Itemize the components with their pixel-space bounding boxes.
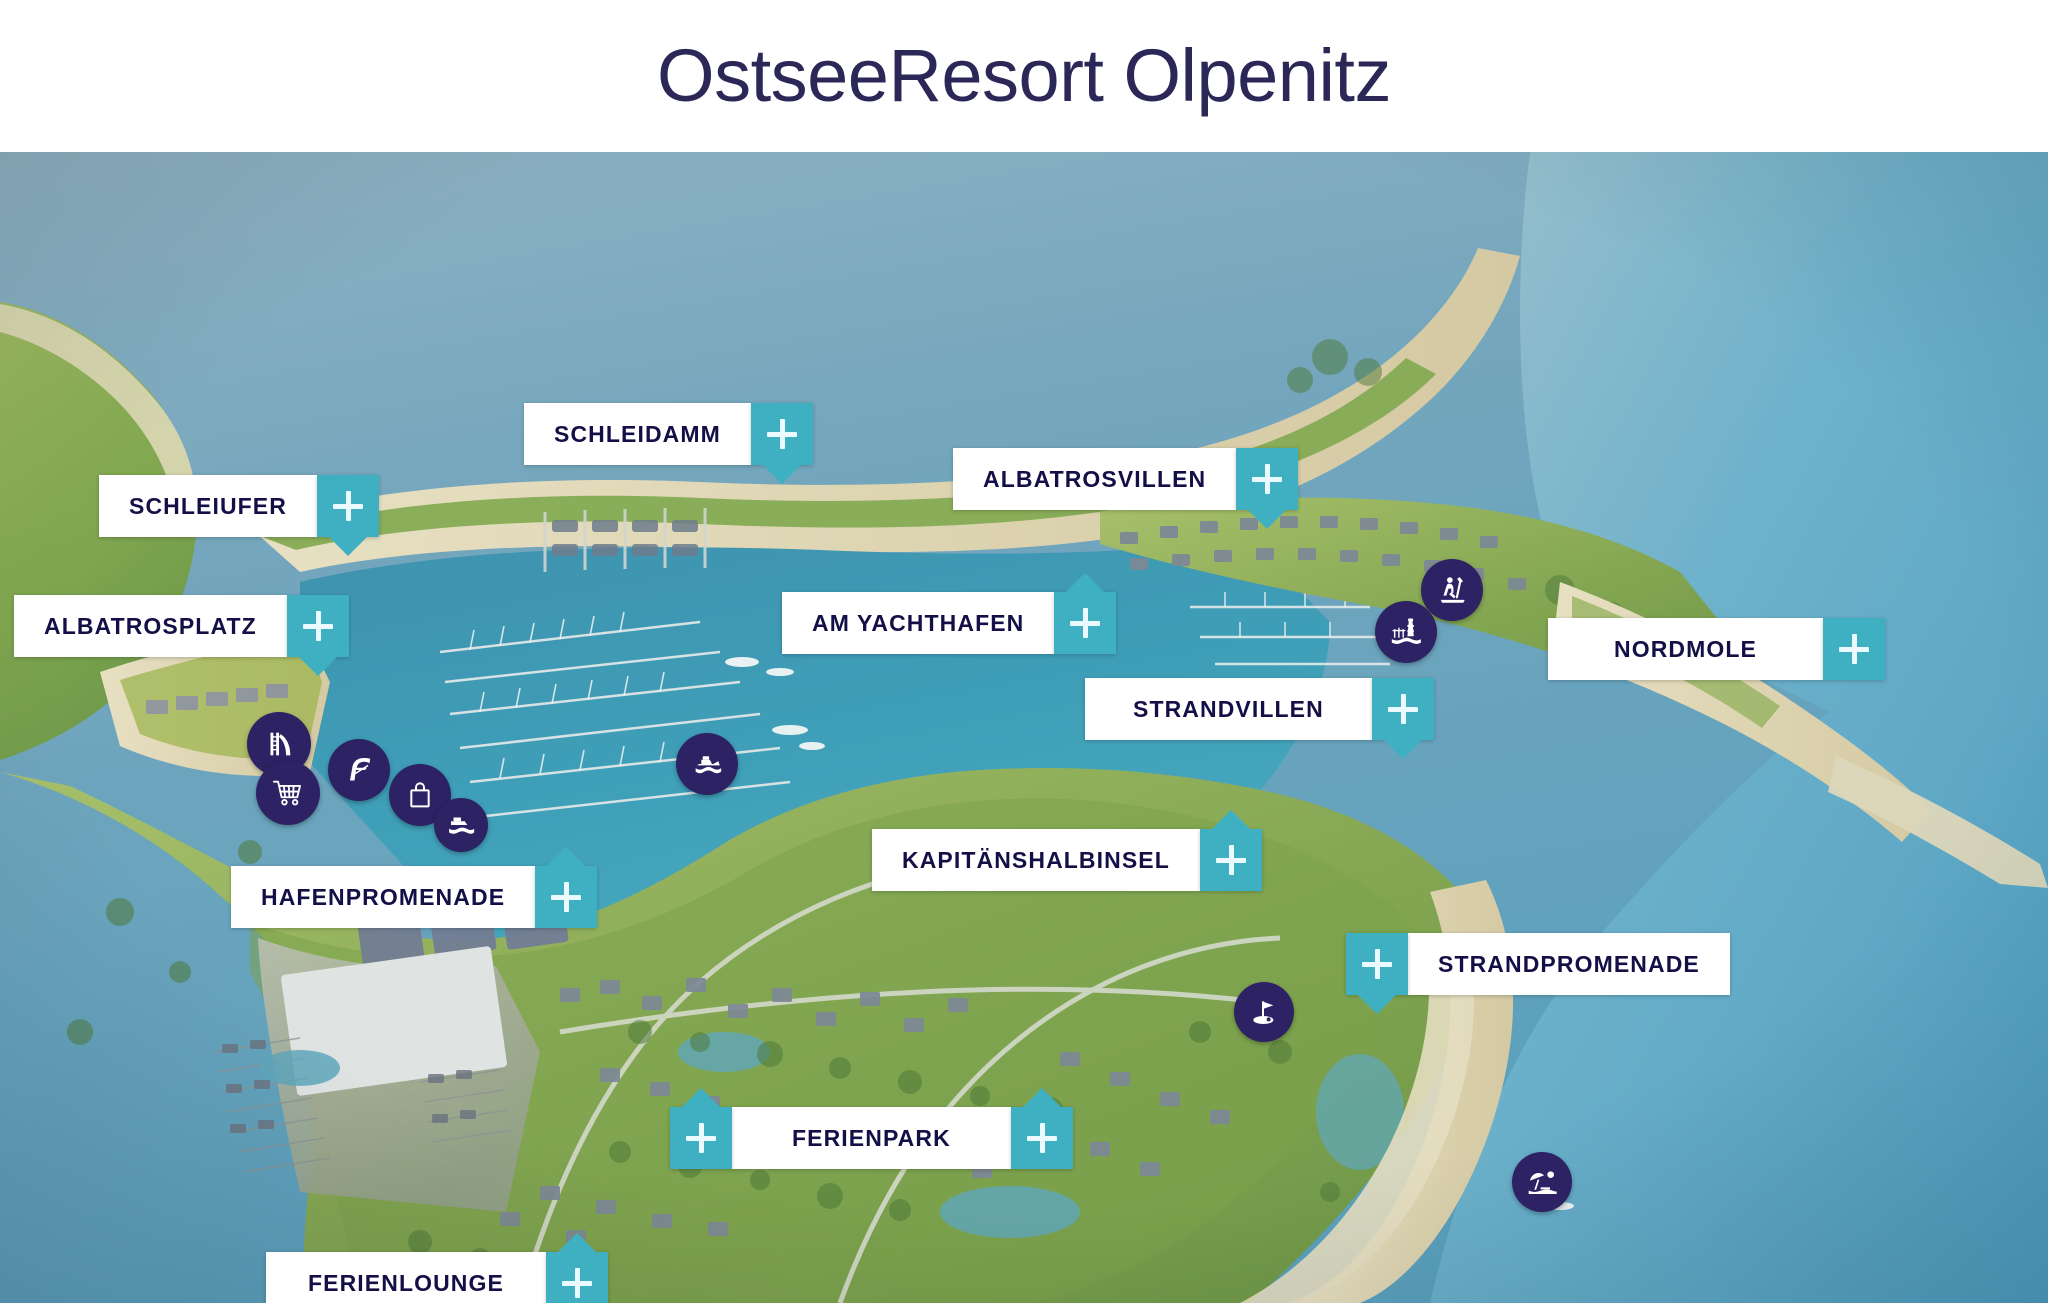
page-title: OstseeResort Olpenitz (657, 39, 1391, 113)
stand-up-paddle-icon[interactable] (1421, 559, 1483, 621)
map-label-albatrosvillen[interactable]: ALBATROSVILLEN (953, 448, 1298, 510)
lighthouse-pier-icon[interactable] (1375, 601, 1437, 663)
expand-button-ferienpark-right[interactable] (1011, 1107, 1073, 1169)
label-plate: SCHLEIDAMM (524, 403, 751, 465)
label-text: SCHLEIDAMM (554, 423, 721, 446)
label-text: STRANDPROMENADE (1438, 953, 1700, 976)
plus-icon (1216, 845, 1246, 875)
label-text: ALBATROSPLATZ (44, 615, 257, 638)
label-plate: NORDMOLE (1548, 618, 1823, 680)
map-label-strandvillen[interactable]: STRANDVILLEN (1085, 678, 1434, 740)
label-plate: STRANDVILLEN (1085, 678, 1372, 740)
brand-f-logo-icon[interactable] (328, 739, 390, 801)
plus-icon (767, 419, 797, 449)
label-plate: HAFENPROMENADE (231, 866, 535, 928)
expand-button-nordmole[interactable] (1823, 618, 1885, 680)
resort-map-page: OstseeResort Olpenitz (0, 0, 2048, 1303)
label-text: STRANDVILLEN (1133, 698, 1324, 721)
resort-aerial-map[interactable]: SCHLEIDAMM SCHLEIUFER ALBATROSVILLEN (0, 152, 2048, 1303)
golf-flag-icon[interactable] (1234, 982, 1294, 1042)
plus-icon (1070, 608, 1100, 638)
label-plate: KAPITÄNSHALBINSEL (872, 829, 1200, 891)
label-text: FERIENPARK (792, 1127, 951, 1150)
label-plate: FERIENPARK (732, 1107, 1011, 1169)
label-text: FERIENLOUNGE (308, 1272, 504, 1295)
map-label-ferienpark[interactable]: FERIENPARK (670, 1107, 1073, 1169)
expand-button-strandpromenade[interactable] (1346, 933, 1408, 995)
map-label-ferienlounge[interactable]: FERIENLOUNGE (266, 1252, 608, 1303)
map-label-strandpromenade[interactable]: STRANDPROMENADE (1346, 933, 1730, 995)
plus-icon (1252, 464, 1282, 494)
expand-button-albatrosplatz[interactable] (287, 595, 349, 657)
map-label-hafenpromenade[interactable]: HAFENPROMENADE (231, 866, 597, 928)
expand-button-ferienpark-left[interactable] (670, 1107, 732, 1169)
expand-button-hafenpromenade[interactable] (535, 866, 597, 928)
expand-button-schleidamm[interactable] (751, 403, 813, 465)
label-text: SCHLEIUFER (129, 495, 287, 518)
plus-icon (686, 1123, 716, 1153)
plus-icon (562, 1268, 592, 1298)
expand-button-kapitaenshalbinsel[interactable] (1200, 829, 1262, 891)
expand-button-albatrosvillen[interactable] (1236, 448, 1298, 510)
map-label-kapitaenshalbinsel[interactable]: KAPITÄNSHALBINSEL (872, 829, 1262, 891)
label-text: HAFENPROMENADE (261, 886, 505, 909)
plus-icon (1839, 634, 1869, 664)
plus-icon (303, 611, 333, 641)
shopping-cart-icon[interactable] (256, 761, 320, 825)
label-text: AM YACHTHAFEN (812, 612, 1024, 635)
label-text: NORDMOLE (1614, 638, 1757, 661)
map-label-albatrosplatz[interactable]: ALBATROSPLATZ (14, 595, 349, 657)
plus-icon (1362, 949, 1392, 979)
beach-umbrella-icon[interactable] (1512, 1152, 1572, 1212)
label-plate: AM YACHTHAFEN (782, 592, 1054, 654)
marina-boat-icon[interactable] (434, 798, 488, 852)
plus-icon (551, 882, 581, 912)
expand-button-strandvillen[interactable] (1372, 678, 1434, 740)
label-plate: FERIENLOUNGE (266, 1252, 546, 1303)
map-label-schleiufer[interactable]: SCHLEIUFER (99, 475, 379, 537)
label-plate: STRANDPROMENADE (1408, 933, 1730, 995)
label-text: ALBATROSVILLEN (983, 468, 1206, 491)
map-label-schleidamm[interactable]: SCHLEIDAMM (524, 403, 813, 465)
label-plate: ALBATROSPLATZ (14, 595, 287, 657)
label-plate: SCHLEIUFER (99, 475, 317, 537)
plus-icon (333, 491, 363, 521)
title-bar: OstseeResort Olpenitz (0, 0, 2048, 152)
expand-button-ferienlounge[interactable] (546, 1252, 608, 1303)
map-label-am-yachthafen[interactable]: AM YACHTHAFEN (782, 592, 1116, 654)
expand-button-schleiufer[interactable] (317, 475, 379, 537)
plus-icon (1027, 1123, 1057, 1153)
plus-icon (1388, 694, 1418, 724)
map-label-nordmole[interactable]: NORDMOLE (1548, 618, 1885, 680)
expand-button-am-yachthafen[interactable] (1054, 592, 1116, 654)
label-plate: ALBATROSVILLEN (953, 448, 1236, 510)
motor-yacht-icon[interactable] (676, 733, 738, 795)
label-text: KAPITÄNSHALBINSEL (902, 849, 1170, 872)
